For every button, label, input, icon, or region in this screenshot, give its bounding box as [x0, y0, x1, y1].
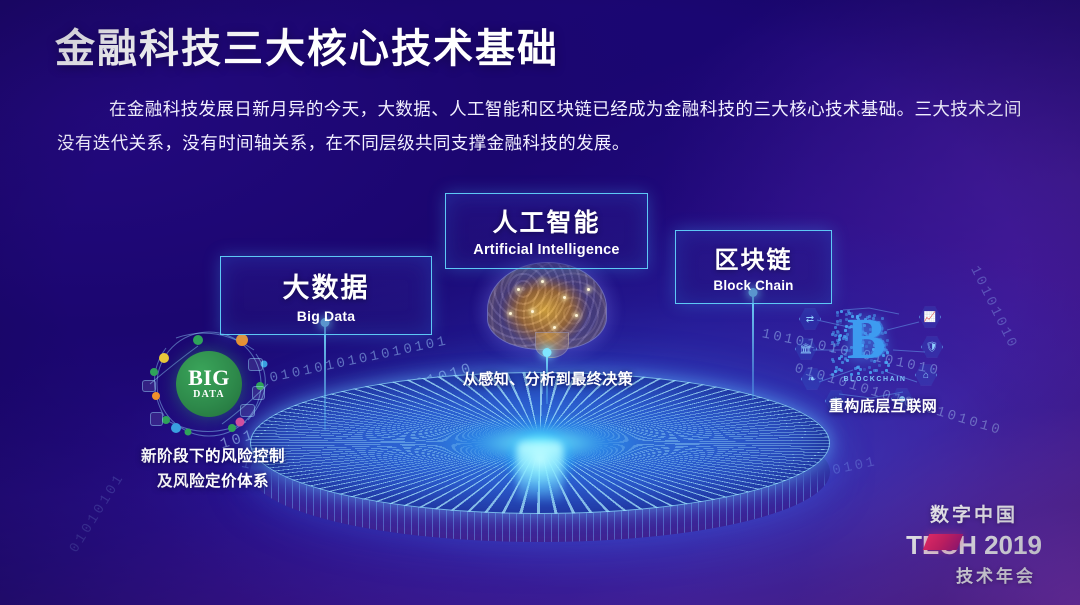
label-box-blockchain[interactable]: 区块链 Block Chain: [675, 230, 832, 304]
pixel-dot: [886, 339, 889, 342]
big-data-badge-sub: DATA: [193, 389, 225, 400]
logo-swoosh-icon: [923, 534, 963, 550]
platform-disc: [250, 372, 830, 562]
label-blockchain-en: Block Chain: [676, 278, 831, 293]
chart-chip-icon: [240, 404, 255, 417]
blockchain-letter-b: B: [847, 310, 886, 368]
pixel-dot: [831, 373, 834, 376]
big-data-network-icon: BIG DATA: [136, 328, 282, 440]
page-title: 金融科技三大核心技术基础: [55, 16, 559, 74]
blockchain-icon-label: BLOCKCHAIN: [835, 376, 915, 383]
connector-blockchain: [752, 292, 754, 400]
slide-canvas: 金融科技三大核心技术基础 在金融科技发展日新月异的今天，大数据、人工智能和区块链…: [0, 0, 1080, 605]
pixel-dot: [838, 357, 841, 360]
pixel-dot: [836, 314, 839, 317]
binary-decoration: 10101010: [966, 263, 1020, 352]
connector-dot: [543, 348, 552, 357]
pixel-dot: [839, 334, 842, 337]
logo-line-2: TECH 2019: [906, 530, 1042, 561]
pixel-dot: [834, 326, 837, 329]
pixel-dot: [836, 343, 839, 346]
brain-spark: [517, 288, 520, 291]
pixel-dot: [831, 350, 834, 353]
caption-big-data-line1: 新阶段下的风险控制: [108, 444, 318, 469]
pixel-dot: [831, 341, 834, 344]
label-ai-en: Artificial Intelligence: [446, 242, 647, 258]
brain-spark: [541, 280, 544, 283]
label-box-big-data[interactable]: 大数据 Big Data: [220, 256, 432, 335]
brain-spark: [575, 314, 578, 317]
big-data-badge-main: BIG: [188, 368, 230, 389]
document-chip-icon: [150, 412, 163, 426]
pixel-dot: [887, 364, 890, 367]
caption-big-data: 新阶段下的风险控制 及风险定价体系: [108, 444, 318, 494]
pixel-dot: [881, 371, 884, 374]
image-chip-icon: [142, 380, 156, 392]
caption-blockchain: 重构底层互联网: [798, 395, 968, 416]
body-paragraph: 在金融科技发展日新月异的今天，大数据、人工智能和区块链已经成为金融科技的三大核心…: [57, 92, 1022, 160]
pixel-dot: [841, 361, 844, 364]
brain-spark: [587, 288, 590, 291]
pixel-dot: [832, 360, 835, 363]
blockchain-pixel-b-icon: B BLOCKCHAIN ⇄ 🏛 ❧ ⚖ 📈 🛡 ⌂ ☻: [795, 302, 945, 402]
disc-core-pillar: [517, 442, 563, 500]
brain-spark: [531, 310, 534, 313]
label-ai-cn: 人工智能: [446, 203, 647, 239]
caption-big-data-line2: 及风险定价体系: [108, 469, 318, 494]
pixel-dot: [836, 339, 839, 342]
brain-spark: [509, 312, 512, 315]
pixel-dot: [869, 371, 872, 374]
logo-line-3: 技术年会: [938, 562, 1054, 587]
brain-spark: [563, 296, 566, 299]
glowing-brain-icon: [483, 254, 611, 358]
calculator-chip-icon: [248, 358, 263, 371]
label-big-data-cn: 大数据: [221, 266, 431, 305]
brain-spark: [553, 326, 556, 329]
label-box-ai[interactable]: 人工智能 Artificial Intelligence: [445, 193, 648, 269]
pixel-dot: [840, 369, 843, 372]
pixel-dot: [857, 372, 860, 375]
lock-chip-icon: [252, 386, 265, 400]
label-blockchain-cn: 区块链: [676, 240, 831, 275]
connector-big-data: [324, 322, 326, 430]
logo-line-1: 数字中国: [894, 500, 1054, 527]
label-big-data-en: Big Data: [221, 308, 431, 324]
big-data-badge: BIG DATA: [176, 351, 242, 417]
pixel-dot: [840, 310, 843, 313]
caption-ai: 从感知、分析到最终决策: [443, 368, 653, 389]
event-logo: 数字中国 TECH 2019 技术年会: [894, 500, 1054, 587]
